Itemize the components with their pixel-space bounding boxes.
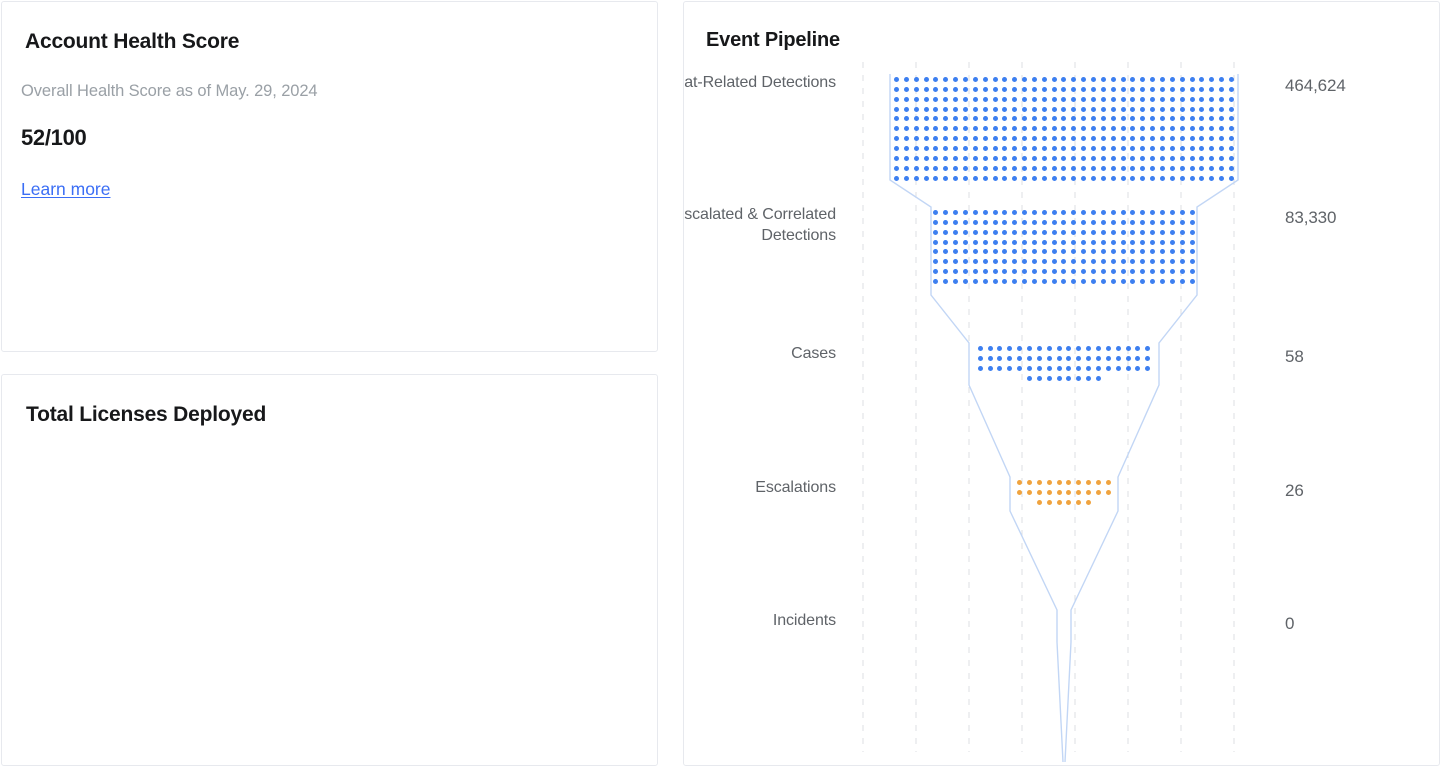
funnel-dot bbox=[1022, 87, 1027, 92]
funnel-dot bbox=[1071, 269, 1076, 274]
funnel-dot bbox=[1130, 156, 1135, 161]
funnel-dot bbox=[1012, 126, 1017, 131]
funnel-dot bbox=[1052, 279, 1057, 284]
funnel-dot bbox=[924, 136, 929, 141]
funnel-dot bbox=[1219, 166, 1224, 171]
funnel-dot bbox=[1066, 366, 1071, 371]
funnel-dot bbox=[1071, 259, 1076, 264]
funnel-dot bbox=[1180, 269, 1185, 274]
funnel-dot bbox=[1002, 166, 1007, 171]
funnel-dot bbox=[1140, 249, 1145, 254]
funnel-dot bbox=[1071, 116, 1076, 121]
funnel-dot bbox=[1022, 210, 1027, 215]
funnel-dot bbox=[1076, 480, 1081, 485]
funnel-dot bbox=[1037, 366, 1042, 371]
funnel-dot bbox=[943, 156, 948, 161]
funnel-dot bbox=[1057, 500, 1062, 505]
funnel-dot bbox=[1180, 176, 1185, 181]
funnel-dot bbox=[1091, 116, 1096, 121]
funnel-dot bbox=[943, 259, 948, 264]
funnel-dot bbox=[1170, 240, 1175, 245]
funnel-dot bbox=[1047, 376, 1052, 381]
funnel-dot bbox=[943, 166, 948, 171]
funnel-dot bbox=[1190, 176, 1195, 181]
funnel-dot bbox=[1229, 166, 1234, 171]
funnel-dot bbox=[1199, 107, 1204, 112]
funnel-dot bbox=[1111, 220, 1116, 225]
funnel-dot bbox=[1057, 366, 1062, 371]
funnel-dot bbox=[1121, 156, 1126, 161]
funnel-dot bbox=[1096, 490, 1101, 495]
funnel-dot bbox=[1081, 279, 1086, 284]
funnel-dot bbox=[1180, 156, 1185, 161]
funnel-dot bbox=[943, 176, 948, 181]
funnel-dot bbox=[953, 210, 958, 215]
funnel-dot bbox=[1180, 77, 1185, 82]
funnel-dot bbox=[1111, 259, 1116, 264]
funnel-dot bbox=[1160, 107, 1165, 112]
funnel-dot bbox=[924, 116, 929, 121]
funnel-dot bbox=[1170, 77, 1175, 82]
funnel-dot bbox=[924, 166, 929, 171]
funnel-dot bbox=[1140, 230, 1145, 235]
funnel-dot bbox=[1140, 166, 1145, 171]
funnel-dot bbox=[1160, 136, 1165, 141]
total-licenses-title: Total Licenses Deployed bbox=[26, 403, 266, 427]
funnel-stage-label: Threat-Related Detections bbox=[683, 72, 836, 93]
funnel-dot bbox=[1101, 156, 1106, 161]
funnel-dot bbox=[1002, 107, 1007, 112]
funnel-dot bbox=[1170, 97, 1175, 102]
funnel-dot bbox=[924, 107, 929, 112]
funnel-dot bbox=[993, 220, 998, 225]
funnel-dot bbox=[1219, 87, 1224, 92]
funnel-dot bbox=[924, 146, 929, 151]
funnel-dot bbox=[914, 136, 919, 141]
funnel-dot bbox=[1081, 176, 1086, 181]
learn-more-link[interactable]: Learn more bbox=[21, 179, 111, 200]
funnel-dot bbox=[953, 259, 958, 264]
funnel-dot bbox=[1002, 77, 1007, 82]
funnel-dot bbox=[1121, 166, 1126, 171]
funnel-dot bbox=[1052, 116, 1057, 121]
funnel-dot bbox=[1150, 259, 1155, 264]
funnel-dot bbox=[1091, 97, 1096, 102]
funnel-dot bbox=[1180, 126, 1185, 131]
account-health-score-card: Account Health Score Overall Health Scor… bbox=[1, 1, 658, 352]
funnel-dot bbox=[1027, 376, 1032, 381]
funnel-dot bbox=[933, 116, 938, 121]
funnel-dot bbox=[1032, 136, 1037, 141]
funnel-dot bbox=[1057, 480, 1062, 485]
funnel-dot bbox=[993, 87, 998, 92]
funnel-dot bbox=[1047, 480, 1052, 485]
funnel-dot bbox=[1071, 230, 1076, 235]
funnel-dot bbox=[973, 176, 978, 181]
funnel-dot bbox=[894, 116, 899, 121]
funnel-dot bbox=[1037, 500, 1042, 505]
funnel-dot bbox=[1101, 230, 1106, 235]
funnel-dot bbox=[904, 87, 909, 92]
funnel-dot bbox=[1101, 176, 1106, 181]
funnel-dot bbox=[1111, 136, 1116, 141]
funnel-dot bbox=[1091, 126, 1096, 131]
funnel-dot bbox=[1047, 366, 1052, 371]
funnel-dot bbox=[894, 77, 899, 82]
funnel-dot bbox=[1086, 356, 1091, 361]
funnel-dot bbox=[1190, 230, 1195, 235]
funnel-dot bbox=[1190, 220, 1195, 225]
funnel-dot bbox=[1007, 346, 1012, 351]
funnel-dot bbox=[1032, 166, 1037, 171]
funnel-dot bbox=[1199, 116, 1204, 121]
funnel-dot bbox=[1017, 356, 1022, 361]
funnel-dot bbox=[973, 87, 978, 92]
funnel-dot bbox=[943, 87, 948, 92]
funnel-dot bbox=[1071, 166, 1076, 171]
funnel-dot bbox=[1150, 126, 1155, 131]
funnel-dot bbox=[943, 230, 948, 235]
funnel-dot bbox=[1111, 240, 1116, 245]
funnel-dot bbox=[963, 156, 968, 161]
funnel-dot bbox=[1209, 146, 1214, 151]
funnel-dot bbox=[1081, 146, 1086, 151]
funnel-dot bbox=[1111, 230, 1116, 235]
funnel-dot bbox=[1012, 220, 1017, 225]
funnel-dot bbox=[1002, 126, 1007, 131]
funnel-dot bbox=[1219, 126, 1224, 131]
funnel-dot bbox=[1190, 279, 1195, 284]
funnel-dot bbox=[1170, 116, 1175, 121]
funnel-dot bbox=[993, 156, 998, 161]
funnel-dot bbox=[1022, 116, 1027, 121]
funnel-dot bbox=[1229, 136, 1234, 141]
funnel-dot bbox=[1012, 210, 1017, 215]
funnel-dot bbox=[1180, 210, 1185, 215]
funnel-dot bbox=[1209, 176, 1214, 181]
funnel-dot bbox=[1229, 77, 1234, 82]
funnel-dot bbox=[914, 97, 919, 102]
funnel-dot bbox=[1111, 116, 1116, 121]
funnel-dot bbox=[1140, 87, 1145, 92]
funnel-dot bbox=[993, 269, 998, 274]
funnel-stage-label: Escalated & Correlated Detections bbox=[683, 204, 836, 246]
funnel-dot bbox=[1135, 356, 1140, 361]
funnel-dot bbox=[1160, 249, 1165, 254]
funnel-dot bbox=[997, 356, 1002, 361]
funnel-dot bbox=[1170, 126, 1175, 131]
funnel-dot bbox=[1066, 346, 1071, 351]
funnel-dot bbox=[1061, 166, 1066, 171]
funnel-dot bbox=[1140, 97, 1145, 102]
funnel-dot bbox=[1121, 279, 1126, 284]
funnel-dot bbox=[1081, 87, 1086, 92]
funnel-dot bbox=[1061, 156, 1066, 161]
funnel-dot bbox=[943, 97, 948, 102]
funnel-dot bbox=[1111, 279, 1116, 284]
funnel-dot bbox=[1066, 500, 1071, 505]
funnel-dot bbox=[1081, 210, 1086, 215]
funnel-dot bbox=[1076, 376, 1081, 381]
funnel-dot bbox=[1091, 136, 1096, 141]
funnel-dot bbox=[973, 240, 978, 245]
funnel-dot bbox=[1219, 146, 1224, 151]
funnel-dot bbox=[1081, 240, 1086, 245]
funnel-dot bbox=[983, 176, 988, 181]
funnel-dot bbox=[963, 210, 968, 215]
funnel-dot bbox=[1002, 146, 1007, 151]
funnel-dot bbox=[1145, 356, 1150, 361]
funnel-dot bbox=[963, 279, 968, 284]
funnel-dot bbox=[1170, 210, 1175, 215]
funnel-dot bbox=[894, 126, 899, 131]
funnel-dot bbox=[1160, 240, 1165, 245]
funnel-dot bbox=[973, 269, 978, 274]
funnel-dot bbox=[1052, 240, 1057, 245]
funnel-dot bbox=[1032, 240, 1037, 245]
funnel-dot bbox=[1150, 230, 1155, 235]
funnel-dot bbox=[924, 87, 929, 92]
funnel-dot bbox=[1081, 249, 1086, 254]
funnel-dot bbox=[1180, 97, 1185, 102]
funnel-dot bbox=[914, 116, 919, 121]
funnel-dot bbox=[1071, 220, 1076, 225]
funnel-dot bbox=[983, 156, 988, 161]
funnel-dot bbox=[983, 166, 988, 171]
funnel-dot bbox=[953, 146, 958, 151]
funnel-dot bbox=[1057, 346, 1062, 351]
funnel-dot bbox=[1219, 176, 1224, 181]
funnel-dot bbox=[1061, 176, 1066, 181]
funnel-dot bbox=[1012, 249, 1017, 254]
funnel-dot bbox=[1002, 156, 1007, 161]
funnel-dot bbox=[1081, 97, 1086, 102]
funnel-dot bbox=[1081, 220, 1086, 225]
funnel-dot bbox=[993, 126, 998, 131]
funnel-stage-label: Escalations bbox=[683, 477, 836, 498]
funnel-dot bbox=[1170, 259, 1175, 264]
funnel-dot bbox=[1140, 77, 1145, 82]
funnel-dot bbox=[1002, 87, 1007, 92]
funnel-dot bbox=[1121, 259, 1126, 264]
funnel-dot bbox=[973, 107, 978, 112]
funnel-dot bbox=[1071, 156, 1076, 161]
funnel-dot bbox=[933, 279, 938, 284]
funnel-dot-block bbox=[894, 77, 1234, 185]
funnel-dot bbox=[1190, 126, 1195, 131]
funnel-dot bbox=[1170, 87, 1175, 92]
funnel-dot bbox=[1012, 176, 1017, 181]
funnel-dot bbox=[1017, 346, 1022, 351]
funnel-dot bbox=[1086, 376, 1091, 381]
funnel-dot bbox=[904, 156, 909, 161]
funnel-dot bbox=[1002, 210, 1007, 215]
funnel-dot bbox=[1150, 146, 1155, 151]
funnel-dot bbox=[1017, 366, 1022, 371]
funnel-dot bbox=[894, 107, 899, 112]
funnel-dot bbox=[943, 210, 948, 215]
funnel-dot bbox=[1012, 166, 1017, 171]
funnel-dot bbox=[1145, 346, 1150, 351]
funnel-dot bbox=[1052, 210, 1057, 215]
funnel-dot bbox=[1101, 269, 1106, 274]
funnel-dot bbox=[993, 240, 998, 245]
funnel-dot bbox=[1042, 146, 1047, 151]
funnel-dot bbox=[1199, 146, 1204, 151]
funnel-dot bbox=[1052, 176, 1057, 181]
funnel-dot bbox=[963, 126, 968, 131]
funnel-dot bbox=[1180, 279, 1185, 284]
funnel-dot bbox=[1002, 116, 1007, 121]
funnel-dot bbox=[1140, 146, 1145, 151]
funnel-dot bbox=[1052, 146, 1057, 151]
funnel-dot bbox=[1061, 210, 1066, 215]
funnel-dot bbox=[1190, 146, 1195, 151]
funnel-dot bbox=[983, 126, 988, 131]
funnel-dot bbox=[1032, 176, 1037, 181]
funnel-dot bbox=[1130, 210, 1135, 215]
funnel-dot bbox=[1022, 136, 1027, 141]
funnel-dot bbox=[914, 156, 919, 161]
funnel-dot bbox=[1199, 166, 1204, 171]
funnel-dot bbox=[973, 116, 978, 121]
funnel-dot bbox=[1032, 279, 1037, 284]
funnel-dot bbox=[1042, 210, 1047, 215]
funnel-dot bbox=[1111, 210, 1116, 215]
funnel-dot bbox=[1121, 87, 1126, 92]
funnel-dot bbox=[1130, 77, 1135, 82]
funnel-dot bbox=[1032, 116, 1037, 121]
funnel-dot bbox=[1071, 136, 1076, 141]
funnel-dot bbox=[1101, 210, 1106, 215]
funnel-dot bbox=[1190, 116, 1195, 121]
funnel-dot bbox=[1091, 249, 1096, 254]
funnel-dot bbox=[1130, 249, 1135, 254]
funnel-dot bbox=[904, 166, 909, 171]
funnel-dot bbox=[1022, 249, 1027, 254]
funnel-dot bbox=[1012, 116, 1017, 121]
funnel-dot bbox=[1190, 107, 1195, 112]
funnel-dot bbox=[1096, 480, 1101, 485]
funnel-dot bbox=[963, 77, 968, 82]
funnel-dot bbox=[1126, 356, 1131, 361]
funnel-dot bbox=[973, 166, 978, 171]
funnel-dot bbox=[983, 249, 988, 254]
funnel-dot bbox=[1190, 259, 1195, 264]
funnel-dot bbox=[1101, 240, 1106, 245]
funnel-dot bbox=[1180, 220, 1185, 225]
funnel-dot bbox=[1160, 77, 1165, 82]
funnel-dot bbox=[1111, 156, 1116, 161]
funnel-dot bbox=[1091, 107, 1096, 112]
funnel-dot bbox=[1052, 220, 1057, 225]
funnel-dot bbox=[904, 107, 909, 112]
funnel-dot bbox=[943, 126, 948, 131]
funnel-dot bbox=[943, 269, 948, 274]
account-health-subtitle: Overall Health Score as of May. 29, 2024 bbox=[21, 82, 318, 101]
funnel-dot bbox=[1042, 77, 1047, 82]
funnel-dot bbox=[993, 116, 998, 121]
funnel-dot bbox=[1081, 269, 1086, 274]
funnel-dot bbox=[1150, 166, 1155, 171]
funnel-dot bbox=[1052, 126, 1057, 131]
funnel-dot bbox=[1126, 346, 1131, 351]
funnel-dot bbox=[973, 97, 978, 102]
funnel-dot bbox=[1101, 249, 1106, 254]
funnel-dot bbox=[1180, 240, 1185, 245]
funnel-dot bbox=[933, 77, 938, 82]
funnel-dot bbox=[1229, 176, 1234, 181]
funnel-dot bbox=[1111, 87, 1116, 92]
funnel-dot bbox=[1229, 116, 1234, 121]
funnel-dot bbox=[953, 136, 958, 141]
funnel-dot-block bbox=[978, 346, 1150, 385]
funnel-dot bbox=[983, 77, 988, 82]
funnel-dot bbox=[1042, 230, 1047, 235]
funnel-dot bbox=[1170, 166, 1175, 171]
funnel-dot bbox=[993, 259, 998, 264]
funnel-dot bbox=[1219, 107, 1224, 112]
funnel-dot bbox=[1106, 346, 1111, 351]
funnel-dot bbox=[963, 176, 968, 181]
funnel-dot bbox=[1061, 269, 1066, 274]
funnel-dot bbox=[1066, 480, 1071, 485]
funnel-dot bbox=[1150, 136, 1155, 141]
funnel-dot bbox=[1012, 146, 1017, 151]
funnel-dot bbox=[1101, 166, 1106, 171]
funnel-dot bbox=[904, 77, 909, 82]
funnel-dot bbox=[1091, 240, 1096, 245]
funnel-dot bbox=[1101, 116, 1106, 121]
funnel-dot bbox=[1106, 366, 1111, 371]
funnel-dot bbox=[1061, 259, 1066, 264]
funnel-dot bbox=[973, 210, 978, 215]
funnel-dot bbox=[1052, 259, 1057, 264]
funnel-dot bbox=[983, 230, 988, 235]
funnel-dot bbox=[1061, 77, 1066, 82]
funnel-dot bbox=[1012, 107, 1017, 112]
funnel-dot bbox=[1012, 156, 1017, 161]
funnel-stage-value: 58 bbox=[1285, 347, 1304, 367]
funnel-dot bbox=[993, 249, 998, 254]
funnel-dot bbox=[963, 220, 968, 225]
funnel-dot bbox=[1150, 116, 1155, 121]
funnel-dot bbox=[1170, 176, 1175, 181]
funnel-dot bbox=[1150, 176, 1155, 181]
funnel-dot bbox=[1160, 279, 1165, 284]
funnel-dot bbox=[1091, 259, 1096, 264]
funnel-dot bbox=[1012, 259, 1017, 264]
funnel-dot bbox=[1052, 87, 1057, 92]
account-health-score-title: Account Health Score bbox=[25, 30, 239, 54]
funnel-dot bbox=[1081, 230, 1086, 235]
total-licenses-deployed-card: Total Licenses Deployed Endpoints: 5974 … bbox=[1, 374, 658, 766]
funnel-dot bbox=[1061, 240, 1066, 245]
funnel-dot bbox=[1121, 146, 1126, 151]
funnel-dot bbox=[1032, 77, 1037, 82]
funnel-dot bbox=[1140, 136, 1145, 141]
funnel-dot bbox=[1052, 77, 1057, 82]
funnel-dot bbox=[1121, 249, 1126, 254]
funnel-dot bbox=[1037, 480, 1042, 485]
funnel-dot bbox=[1111, 146, 1116, 151]
funnel-dot bbox=[933, 166, 938, 171]
funnel-dot bbox=[1229, 156, 1234, 161]
funnel-dot bbox=[1106, 490, 1111, 495]
funnel-dot bbox=[1180, 166, 1185, 171]
funnel-dot bbox=[1061, 97, 1066, 102]
funnel-dot bbox=[1111, 249, 1116, 254]
